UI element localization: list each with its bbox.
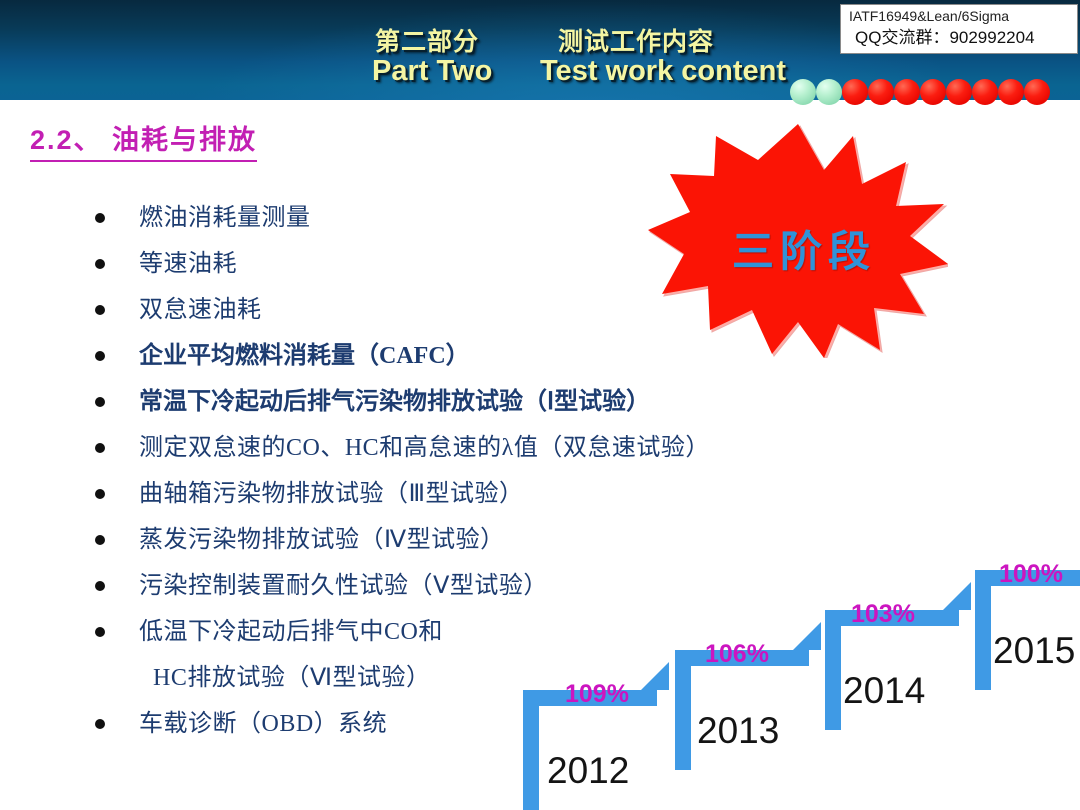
list-item-label: 等速油耗 — [139, 244, 237, 284]
section-title: 2.2、 油耗与排放 — [30, 118, 257, 162]
bullet-dot-placeholder-icon — [95, 673, 105, 683]
list-item: 曲轴箱污染物排放试验（Ⅲ型试验） — [95, 474, 895, 514]
contact-badge-standards: IATF16949&Lean/6Sigma — [849, 7, 1077, 26]
list-item-label: 企业平均燃料消耗量（CAFC） — [139, 336, 470, 376]
dot-red-icon — [842, 79, 868, 105]
chart-value-label-2012: 109% — [565, 680, 629, 709]
chart-category-label-2014: 2014 — [843, 670, 925, 712]
dot-green-icon — [790, 79, 816, 105]
starburst-label-wrap: 三阶段 — [648, 118, 948, 358]
list-item-label: 测定双怠速的CO、HC和高怠速的λ值（双怠速试验） — [139, 428, 710, 468]
starburst-label: 三阶段 — [732, 218, 876, 279]
header-title-cn-topic: 测试工作内容 — [558, 22, 714, 58]
dot-red-icon — [998, 79, 1024, 105]
decorative-dot-row — [790, 79, 1049, 105]
header-title-en-part: Part Two — [372, 55, 492, 88]
step-riser-bar — [523, 690, 539, 810]
dot-red-icon — [894, 79, 920, 105]
bullet-dot-icon — [95, 719, 105, 729]
header-title-en-topic: Test work content — [540, 55, 786, 88]
step-arrow-icon — [943, 582, 971, 610]
list-item: 蒸发污染物排放试验（Ⅳ型试验） — [95, 520, 895, 560]
bullet-dot-icon — [95, 535, 105, 545]
list-item: 测定双怠速的CO、HC和高怠速的λ值（双怠速试验） — [95, 428, 895, 468]
step-riser-bar — [825, 610, 841, 730]
starburst-callout: 三阶段 — [648, 118, 948, 358]
bullet-dot-icon — [95, 489, 105, 499]
list-item-label: 曲轴箱污染物排放试验（Ⅲ型试验） — [139, 474, 524, 514]
chart-value-label-2015: 100% — [999, 560, 1063, 589]
dot-red-icon — [868, 79, 894, 105]
dot-red-icon — [946, 79, 972, 105]
bullet-dot-icon — [95, 305, 105, 315]
list-item-label: 污染控制装置耐久性试验（Ⅴ型试验） — [139, 566, 548, 606]
chart-category-label-2015: 2015 — [993, 630, 1075, 672]
step-arrow-icon — [793, 622, 821, 650]
dot-red-icon — [1024, 79, 1050, 105]
contact-badge-qq-group: QQ交流群：902992204 — [849, 26, 1077, 50]
bullet-dot-icon — [95, 443, 105, 453]
list-item-label: 低温下冷起动后排气中CO和 — [139, 612, 443, 652]
dot-red-icon — [920, 79, 946, 105]
bullet-dot-icon — [95, 259, 105, 269]
bullet-dot-icon — [95, 627, 105, 637]
list-item-label: 燃油消耗量测量 — [139, 198, 311, 238]
dot-green-icon — [816, 79, 842, 105]
list-item-label: 蒸发污染物排放试验（Ⅳ型试验） — [139, 520, 505, 560]
bullet-dot-icon — [95, 351, 105, 361]
step-riser-bar — [975, 570, 991, 690]
list-item-label: HC排放试验（Ⅵ型试验） — [139, 658, 430, 698]
chart-category-label-2012: 2012 — [547, 750, 629, 792]
bullet-dot-icon — [95, 213, 105, 223]
list-item-label: 常温下冷起动后排气污染物排放试验（Ⅰ型试验） — [139, 382, 650, 422]
chart-category-label-2013: 2013 — [697, 710, 779, 752]
header-title-cn-part: 第二部分 — [375, 22, 479, 58]
step-riser-bar — [675, 650, 691, 770]
contact-badge: IATF16949&Lean/6Sigma QQ交流群：902992204 — [840, 4, 1078, 54]
bullet-dot-icon — [95, 397, 105, 407]
bullet-dot-icon — [95, 581, 105, 591]
step-arrow-icon — [641, 662, 669, 690]
chart-value-label-2013: 106% — [705, 640, 769, 669]
chart-value-label-2014: 103% — [851, 600, 915, 629]
list-item-label: 双怠速油耗 — [139, 290, 262, 330]
list-item-label: 车载诊断（OBD）系统 — [139, 704, 387, 744]
stair-step-chart: 109% 2012 106% 2013 103% 2014 100% 2015 — [515, 565, 1080, 810]
list-item: 常温下冷起动后排气污染物排放试验（Ⅰ型试验） — [95, 382, 895, 422]
dot-red-icon — [972, 79, 998, 105]
